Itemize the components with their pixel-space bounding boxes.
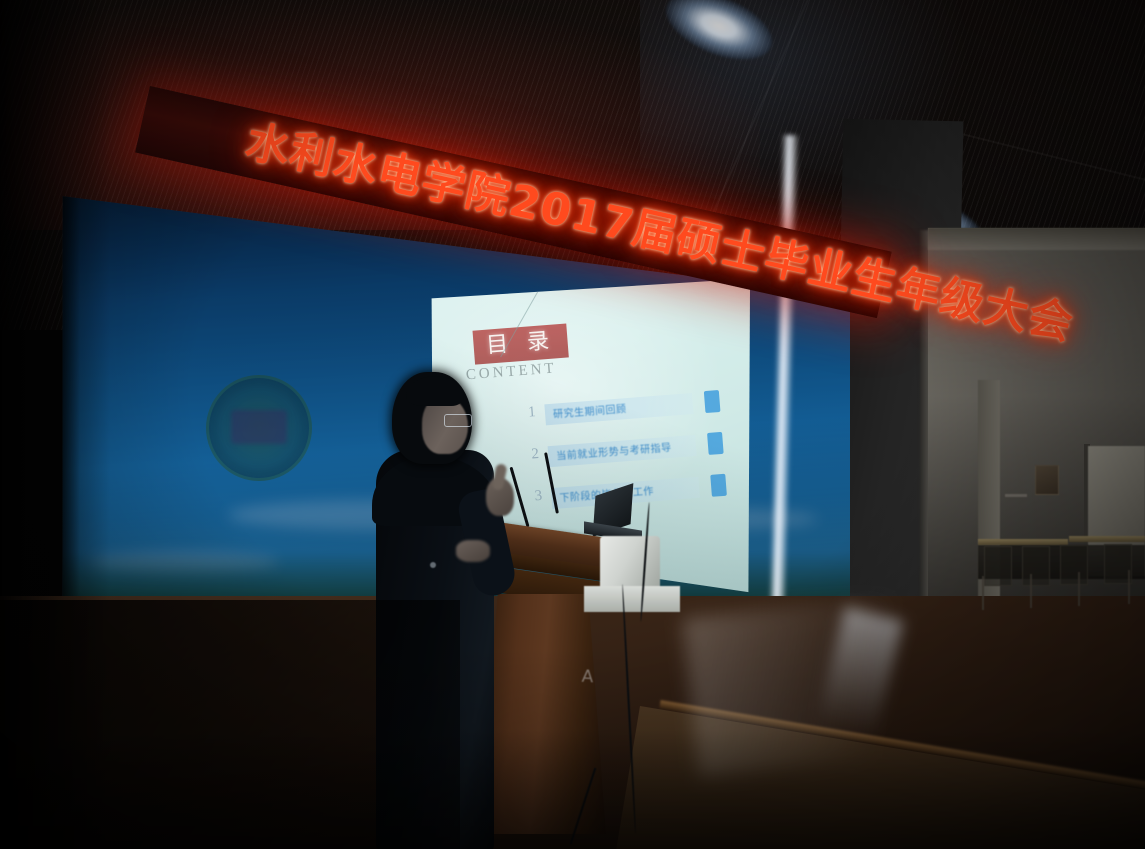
table-leg [1128,570,1130,604]
lapel-pin-icon [430,562,436,568]
wall-plaque [1035,465,1059,495]
equipment-base [584,586,680,612]
table-top [1069,536,1145,542]
chair [1060,545,1088,585]
wall-strip [1005,494,1027,497]
chair [984,546,1012,586]
auditorium-photo: 目 录 CONTENT 1 研究生期间回顾 2 当前就业形势与考研指导 3 下阶… [0,0,1145,849]
table-leg [982,576,984,610]
table-top [978,539,1068,545]
lectern-logo: A [577,668,597,709]
table-leg [1030,574,1032,608]
wall-top-trim [928,228,1145,250]
bottom-shadow [0,729,1145,849]
table-leg [1078,572,1080,606]
glasses-icon [444,414,472,427]
speaker-hand [456,540,490,562]
chair [1022,546,1050,586]
left-shadow [0,0,110,849]
